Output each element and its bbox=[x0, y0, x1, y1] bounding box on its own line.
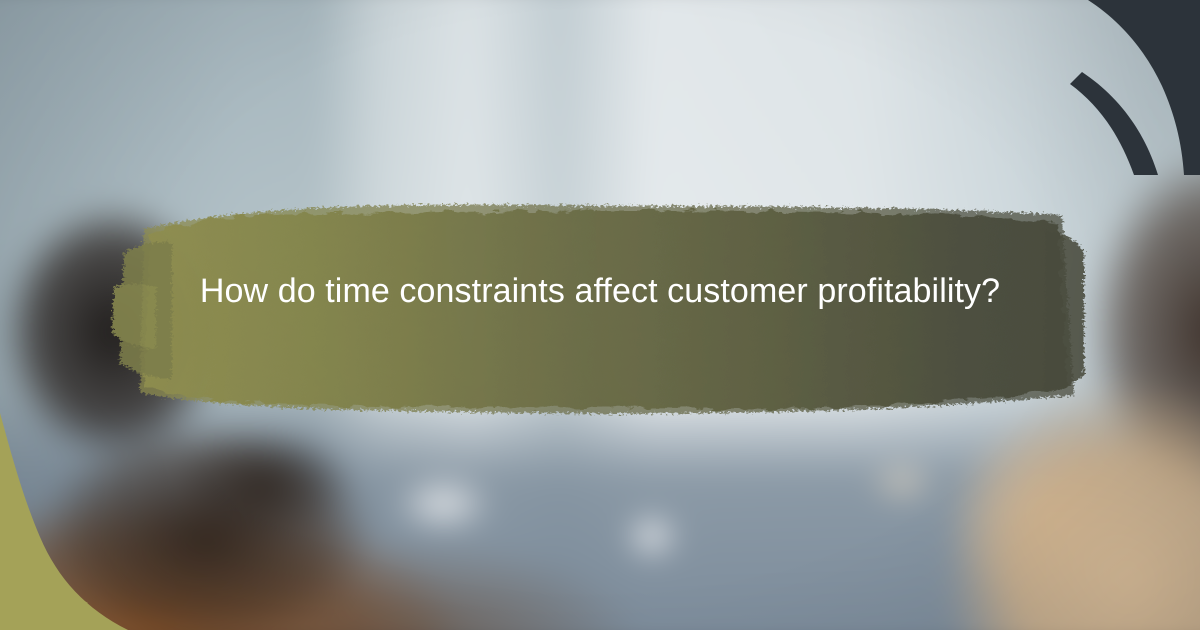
share-card-canvas: How do time constraints affect customer … bbox=[0, 0, 1200, 630]
page-title: How do time constraints affect customer … bbox=[190, 265, 1010, 317]
